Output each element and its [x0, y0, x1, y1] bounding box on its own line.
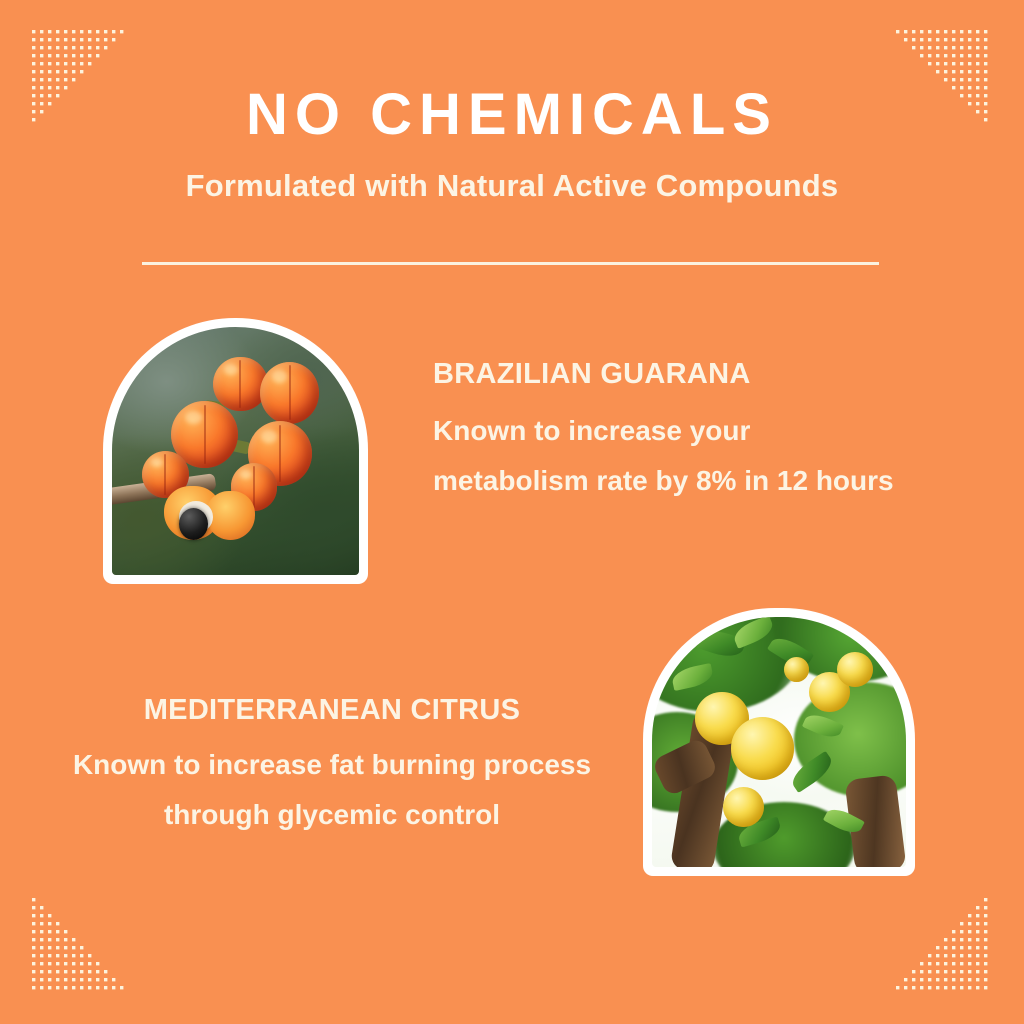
corner-dots-bottom-right-icon	[896, 898, 992, 994]
dot-grid-br	[896, 898, 987, 989]
guarana-heading: BRAZILIAN GUARANA	[433, 356, 903, 392]
citrus-image	[652, 617, 906, 867]
guarana-image	[112, 327, 359, 575]
citrus-heading: MEDITERRANEAN CITRUS	[42, 692, 622, 728]
guarana-image-frame	[103, 318, 368, 584]
guarana-body: Known to increase your metabolism rate b…	[433, 392, 903, 506]
promo-poster: NO CHEMICALS Formulated with Natural Act…	[0, 0, 1024, 1024]
guarana-text-block: BRAZILIAN GUARANA Known to increase your…	[433, 356, 903, 506]
page-subtitle: Formulated with Natural Active Compounds	[0, 146, 1024, 204]
poster-header: NO CHEMICALS Formulated with Natural Act…	[0, 84, 1024, 204]
citrus-body: Known to increase fat burning process th…	[42, 728, 622, 840]
corner-dots-bottom-left-icon	[32, 898, 128, 994]
citrus-text-block: MEDITERRANEAN CITRUS Known to increase f…	[42, 692, 622, 840]
dot-grid-bl	[32, 898, 123, 989]
page-title: NO CHEMICALS	[0, 84, 1024, 146]
guarana-artwork	[112, 327, 359, 575]
citrus-artwork	[652, 617, 906, 867]
header-divider	[142, 262, 879, 265]
citrus-image-frame	[643, 608, 915, 876]
